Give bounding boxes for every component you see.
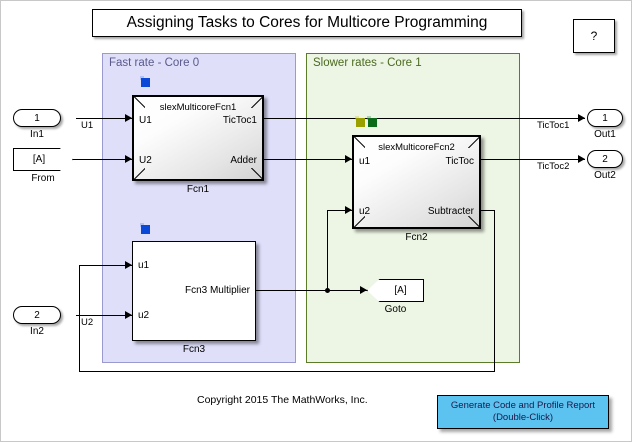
- signal-from-to-fcn1: [73, 159, 132, 160]
- block-fcn3[interactable]: u1 u2 Fcn3 Multiplier: [132, 241, 256, 341]
- from-block-tag: [A]: [33, 154, 45, 165]
- signal-feedback-bottom: [79, 371, 495, 372]
- generate-code-and-profile-report-button[interactable]: Generate Code and Profile Report (Double…: [437, 395, 609, 429]
- fcn1-task-badge: [140, 76, 150, 86]
- block-label-goto: Goto: [367, 304, 424, 315]
- arrow-out1: [578, 114, 585, 122]
- fcn1-output-tictoc1: TicToc1: [223, 115, 257, 126]
- fcn2-task-badge-2: [367, 116, 377, 126]
- model-title-annotation: Assigning Tasks to Cores for Multicore P…: [92, 9, 522, 37]
- page-title: Assigning Tasks to Cores for Multicore P…: [127, 14, 488, 32]
- help-block[interactable]: ?: [573, 19, 615, 53]
- arrow-fcn3-u2: [125, 311, 132, 319]
- signal-label-u2: U2: [81, 317, 93, 328]
- fcn2-input-u2: u2: [359, 206, 370, 217]
- fcn3-task-badge: [140, 223, 150, 233]
- corner-notch-icon: [468, 216, 479, 227]
- signal-label-tictoc2: TicToc2: [537, 161, 569, 172]
- signal-label-tictoc1: TicToc1: [537, 120, 569, 131]
- area-core1-label: Slower rates - Core 1: [313, 57, 422, 69]
- signal-label-u1: U1: [81, 120, 93, 131]
- generate-button-line2: (Double-Click): [493, 412, 553, 424]
- block-label-fcn3: Fcn3: [132, 344, 256, 355]
- fcn3-input-u1: u1: [138, 260, 149, 271]
- arrow-fcn2-u2: [345, 206, 352, 214]
- signal-subtracter-out: [481, 210, 495, 211]
- fcn2-model-name: slexMulticoreFcn2: [354, 142, 479, 153]
- signal-in1-to-fcn1: [76, 118, 132, 119]
- block-label-fcn2: Fcn2: [352, 232, 481, 243]
- goto-block-tag: [A]: [394, 285, 406, 296]
- arrow-fcn3-u1: [125, 261, 132, 269]
- generate-button-line1: Generate Code and Profile Report: [451, 400, 595, 412]
- inport-in1-number: 1: [34, 113, 40, 124]
- fcn2-output-tictoc: TicToc: [445, 156, 474, 167]
- simulink-model-canvas: Assigning Tasks to Cores for Multicore P…: [0, 0, 632, 442]
- arrow-out2: [578, 155, 585, 163]
- corner-notch-icon: [354, 216, 365, 227]
- area-core0-label: Fast rate - Core 0: [109, 57, 199, 69]
- outport-out2[interactable]: 2: [587, 150, 623, 168]
- outport-out2-number: 2: [602, 154, 608, 165]
- block-label-fcn1: Fcn1: [132, 184, 264, 195]
- outport-out1[interactable]: 1: [587, 109, 623, 127]
- signal-subtracter-down: [494, 210, 495, 372]
- signal-tictoc2-to-out2: [481, 159, 585, 160]
- fcn1-output-adder: Adder: [230, 155, 257, 166]
- inport-in1[interactable]: 1: [13, 109, 61, 127]
- arrow-goto: [360, 286, 367, 294]
- block-label-out2: Out2: [587, 170, 623, 181]
- fcn3-input-u2: u2: [138, 310, 149, 321]
- fcn1-input-u1: U1: [139, 115, 152, 126]
- fcn3-label: Fcn3 Multiplier: [185, 285, 250, 296]
- block-fcn1[interactable]: slexMulticoreFcn1 U1 U2 TicToc1 Adder: [132, 95, 264, 181]
- corner-notch-icon: [251, 168, 262, 179]
- block-label-from: From: [13, 173, 73, 184]
- signal-branch-up: [327, 210, 328, 291]
- fcn2-output-subtracter: Subtracter: [428, 206, 474, 217]
- signal-feedback-up: [79, 265, 80, 372]
- block-label-in2: In2: [13, 326, 61, 337]
- help-block-label: ?: [591, 29, 598, 43]
- arrow-fcn1-u2: [125, 155, 132, 163]
- arrow-fcn2-u1: [345, 155, 352, 163]
- from-block[interactable]: [A]: [13, 148, 73, 171]
- fcn2-input-u1: u1: [359, 156, 370, 167]
- inport-in2-number: 2: [34, 310, 40, 321]
- signal-fcn3-out: [256, 290, 367, 291]
- inport-in2[interactable]: 2: [13, 306, 61, 324]
- signal-tictoc1-to-out1: [264, 118, 585, 119]
- copyright-text: Copyright 2015 The MathWorks, Inc.: [197, 394, 368, 406]
- corner-notch-icon: [134, 168, 145, 179]
- block-label-in1: In1: [13, 129, 61, 140]
- fcn1-model-name: slexMulticoreFcn1: [134, 102, 262, 113]
- block-label-out1: Out1: [587, 129, 623, 140]
- fcn1-input-u2: U2: [139, 155, 152, 166]
- arrow-fcn1-u1: [125, 114, 132, 122]
- signal-adder-to-fcn2-u1: [264, 159, 352, 160]
- fcn2-task-badge-1: [355, 116, 365, 126]
- block-fcn2[interactable]: slexMulticoreFcn2 u1 u2 TicToc Subtracte…: [352, 135, 481, 229]
- signal-in2-to-fcn3-u2: [76, 315, 132, 316]
- outport-out1-number: 1: [602, 113, 608, 124]
